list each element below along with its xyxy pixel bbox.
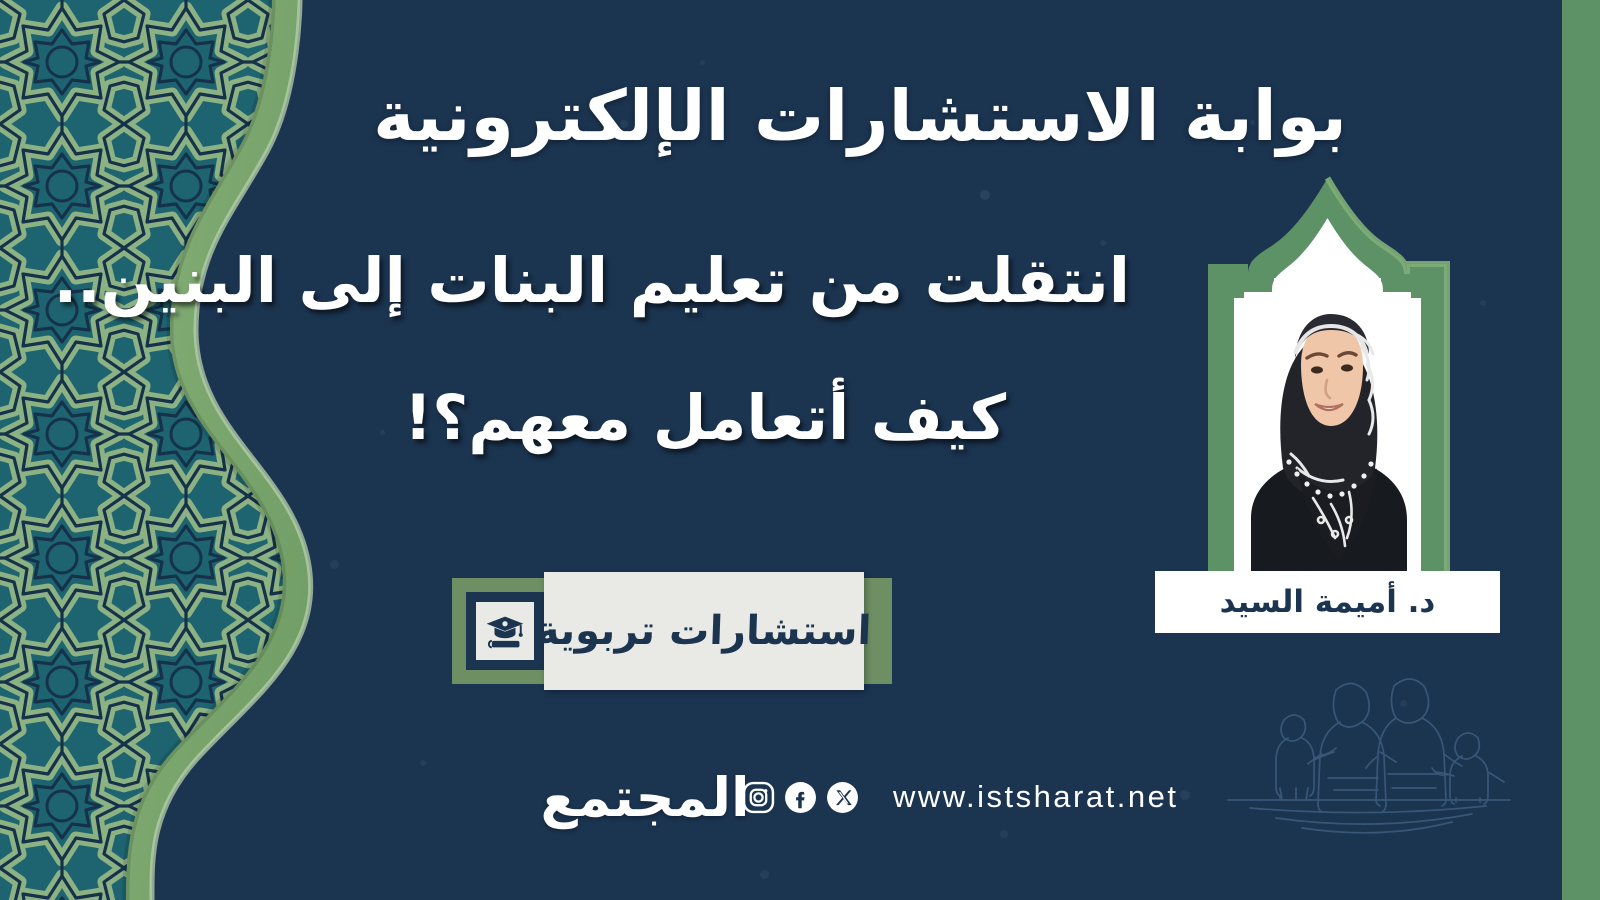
category-badge[interactable]: استشارات تربوية (452, 572, 892, 690)
badge-icon-frame (466, 592, 544, 670)
website-url[interactable]: www.istsharat.net (893, 779, 1178, 815)
badge-label: استشارات تربوية (536, 608, 873, 654)
expert-portrait-card: د. أميمة السيد (1155, 168, 1500, 638)
x-twitter-icon[interactable] (826, 781, 859, 814)
brand-logo[interactable]: المجتمع (560, 742, 730, 852)
right-edge-strip (1562, 0, 1600, 900)
expert-name: د. أميمة السيد (1220, 584, 1436, 620)
instagram-icon[interactable] (742, 781, 775, 814)
headline-line-1: انتقلت من تعليم البنات إلى البنين.. (190, 248, 1130, 313)
expert-name-plate: د. أميمة السيد (1155, 571, 1500, 633)
mosque-arch-frame (1155, 168, 1500, 638)
headline-line-2: كيف أتعامل معهم؟! (190, 385, 1130, 450)
footer-bar: المجتمع (560, 742, 1200, 852)
facebook-icon[interactable] (784, 781, 817, 814)
poster-canvas: بوابة الاستشارات الإلكترونية انتقلت من ت… (0, 0, 1600, 900)
graduation-cap-book-icon (476, 602, 534, 660)
badge-label-plate: استشارات تربوية (544, 572, 864, 690)
headline-block: انتقلت من تعليم البنات إلى البنين.. كيف … (190, 248, 1130, 450)
social-links (742, 781, 859, 814)
page-title: بوابة الاستشارات الإلكترونية (500, 46, 1220, 186)
family-line-art-illustration (1210, 648, 1540, 873)
